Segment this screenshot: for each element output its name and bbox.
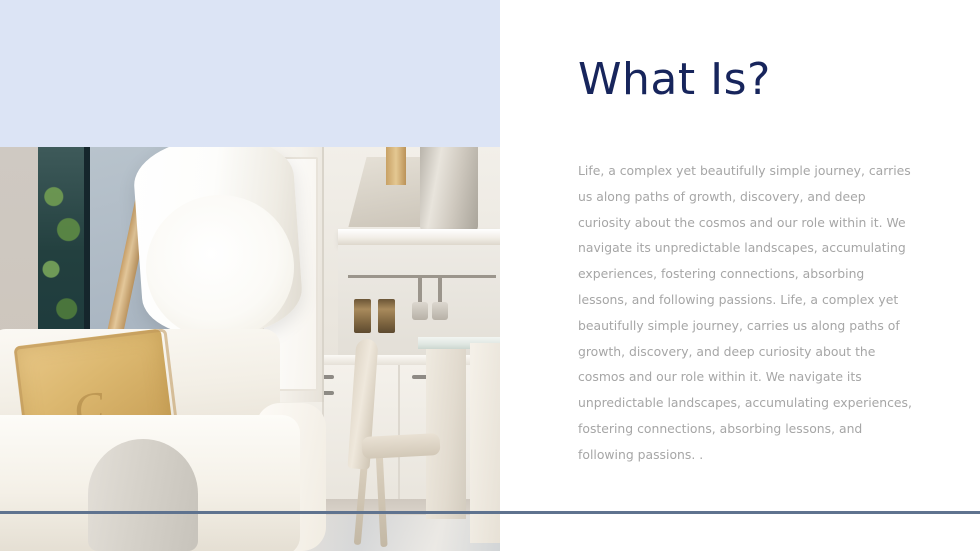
page-title: What Is? [578, 58, 771, 102]
photo-range-hood-steel [420, 147, 478, 232]
photo-spice-jar [378, 299, 395, 333]
photo-utensil-hook [438, 278, 442, 304]
interior-photo: C [0, 147, 500, 551]
accent-panel [0, 0, 500, 148]
photo-utensil-rail [348, 275, 496, 278]
photo-utensil [412, 302, 428, 320]
photo-spice-jar [354, 299, 371, 333]
photo-canvas: C [0, 147, 500, 551]
bottom-divider [0, 511, 980, 514]
photo-range-hood-duct [386, 147, 406, 185]
photo-utensil [432, 302, 448, 320]
photo-sofa-arm [88, 439, 198, 551]
photo-dining-chair-seat [361, 433, 440, 459]
photo-utensil-hook [418, 278, 422, 304]
slide: C What Is? Life, a complex yet beautiful… [0, 0, 980, 551]
photo-shelf [338, 229, 500, 245]
body-paragraph: Life, a complex yet beautifully simple j… [578, 158, 918, 468]
text-column: What Is? Life, a complex yet beautifully… [578, 0, 930, 551]
